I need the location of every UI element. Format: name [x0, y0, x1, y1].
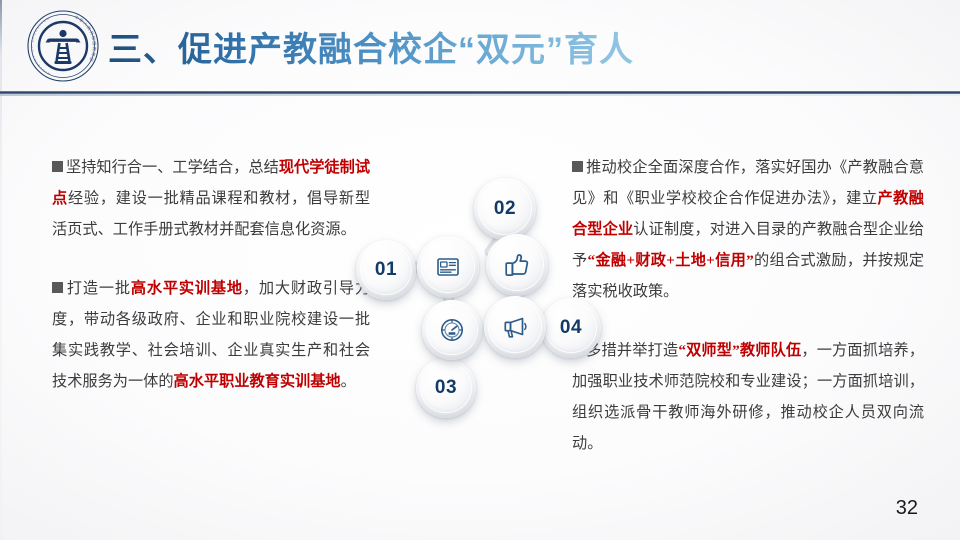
ministry-of-education-logo-icon: 中华人民共和国教育部 MINISTRY OF EDUCATION [26, 9, 100, 83]
badge-label: 04 [560, 317, 582, 339]
right-text-column: 推动校企全面深度合作，落实好国办《产教融合意见》和《职业学校校企合作促进办法》，… [572, 152, 924, 459]
svg-text:MINISTRY OF EDUCATION: MINISTRY OF EDUCATION [30, 16, 51, 76]
left-paragraph-2: 打造一批高水平实训基地，加大财政引导力度，带动各级政府、企业和职业院校建设一批集… [52, 273, 370, 397]
page-title: 三、促进产教融合校企“双元”育人 [108, 22, 634, 71]
thumbs-up-icon [503, 251, 531, 279]
badge-label: 02 [494, 198, 516, 220]
left-p2-run-1: 打造一批 [66, 280, 131, 297]
diagram-badge-02[interactable]: 02 [474, 178, 536, 240]
left-p2-run-4-highlight: 高水平职业教育实训基地 [174, 373, 341, 390]
megaphone-icon [501, 313, 529, 341]
badge-label: 03 [435, 377, 457, 399]
diagram-icon-node-thumbs-up[interactable] [486, 234, 548, 296]
diagram-icon-node-gauge[interactable] [422, 300, 482, 360]
left-p1-run-3: 经验，建设一批精品课程和教材，倡导新型活页式、工作手册式教材并配套信息化资源。 [52, 190, 370, 238]
center-infographic: 01 02 03 04 [350, 168, 602, 424]
diagram-icon-node-megaphone[interactable] [484, 296, 546, 358]
slide-header: 中华人民共和国教育部 MINISTRY OF EDUCATION 三、促进产教融… [0, 0, 960, 94]
left-p2-run-2-highlight: 高水平实训基地 [131, 280, 243, 297]
left-text-column: 坚持知行合一、工学结合，总结现代学徒制试点经验，建设一批精品课程和教材，倡导新型… [52, 152, 370, 397]
header-divider-shadow [0, 94, 960, 96]
left-p1-run-1: 坚持知行合一、工学结合，总结 [66, 159, 279, 176]
right-p1-run-4-highlight: “金融+财政+土地+信用” [587, 252, 753, 269]
page-number: 32 [896, 497, 918, 520]
diagram-badge-04[interactable]: 04 [541, 298, 601, 358]
document-icon [435, 254, 461, 280]
left-paragraph-1: 坚持知行合一、工学结合，总结现代学徒制试点经验，建设一批精品课程和教材，倡导新型… [52, 152, 370, 245]
right-paragraph-2: 多措并举打造“双师型”教师队伍，一方面抓培养，加强职业技术师范院校和专业建设；一… [572, 335, 924, 459]
bullet-square-icon [52, 282, 63, 293]
right-paragraph-1: 推动校企全面深度合作，落实好国办《产教融合意见》和《职业学校校企合作促进办法》，… [572, 152, 924, 307]
gauge-icon [439, 317, 465, 343]
slide: 中华人民共和国教育部 MINISTRY OF EDUCATION 三、促进产教融… [0, 0, 960, 540]
right-p1-run-1: 推动校企全面深度合作，落实好国办《产教融合意见》和《职业学校校企合作促进办法》，… [572, 159, 924, 207]
badge-label: 01 [375, 259, 397, 281]
bullet-square-icon [52, 161, 63, 172]
right-p2-run-2-highlight: “双师型”教师队伍 [678, 342, 801, 359]
diagram-badge-03[interactable]: 03 [416, 358, 476, 418]
diagram-icon-node-document[interactable] [417, 236, 479, 298]
diagram-badge-01[interactable]: 01 [356, 240, 416, 300]
